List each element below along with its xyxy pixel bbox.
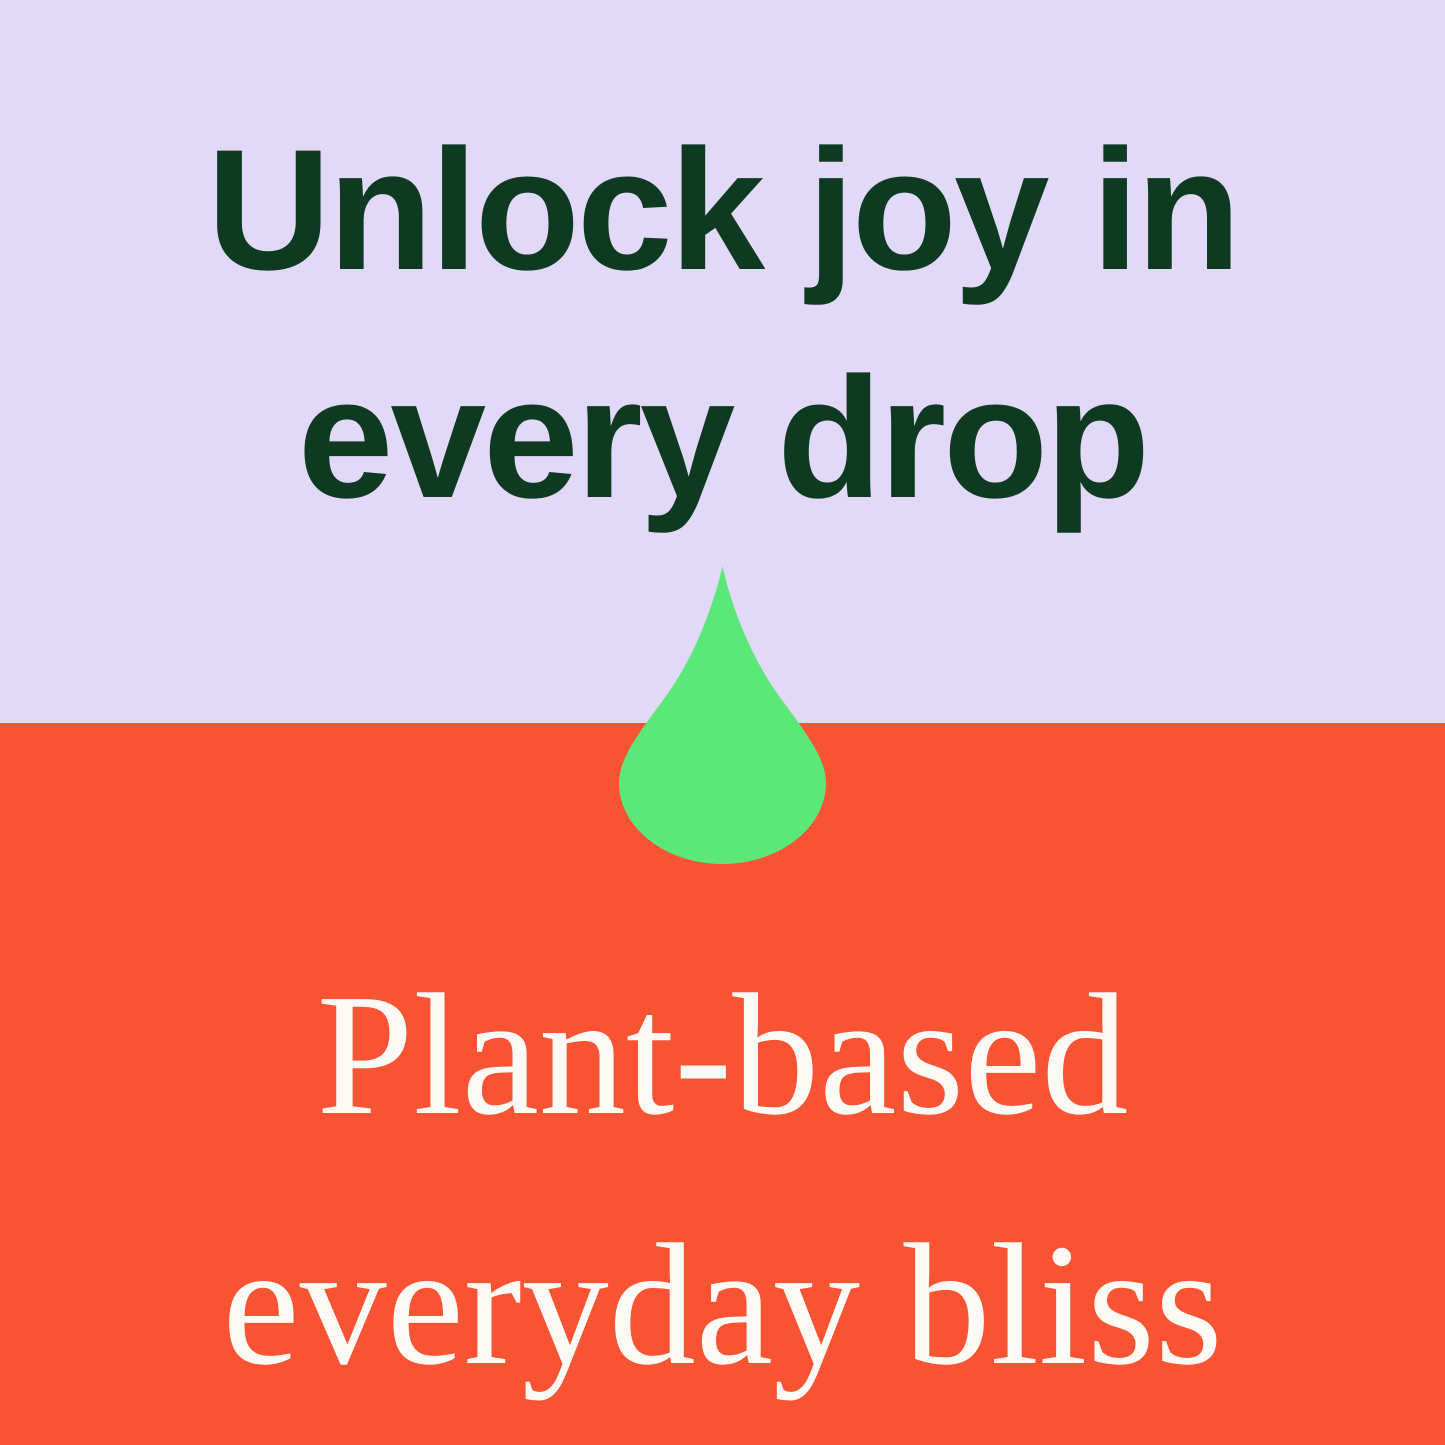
subheadline-line-1: Plant-based [0,930,1445,1180]
headline: Unlock joy in every drop [0,96,1445,552]
headline-line-1: Unlock joy in [0,96,1445,324]
headline-line-2: every drop [0,324,1445,552]
subheadline-line-2: everyday bliss [0,1180,1445,1430]
water-drop-graphic [619,566,826,864]
promotional-poster: Unlock joy in every drop Plant-based eve… [0,0,1445,1445]
water-drop-icon [619,566,826,864]
subheadline: Plant-based everyday bliss [0,930,1445,1430]
